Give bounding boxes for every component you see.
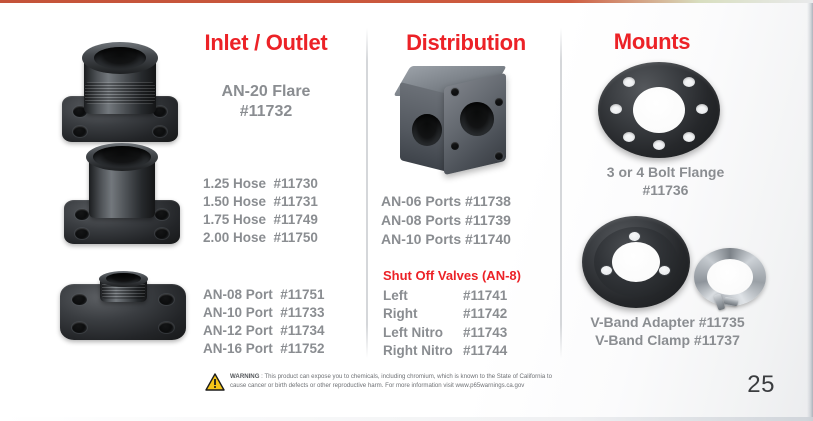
valve-row: Left #11741 <box>383 287 507 305</box>
product-image-an-port-flange <box>56 270 192 350</box>
valve-part-number: #11744 <box>463 342 507 360</box>
catalog-page: Inlet / Outlet AN-20 Flare #11732 1.25 H… <box>0 0 813 421</box>
column-divider-1 <box>366 28 368 358</box>
warning-triangle-icon <box>205 373 225 391</box>
product-image-hose-fitting <box>58 142 186 248</box>
valve-part-number: #11741 <box>463 287 507 305</box>
label-vband: V-Band Adapter #11735 V-Band Clamp #1173… <box>575 313 760 349</box>
label-bolt-flange: 3 or 4 Bolt Flange #11736 <box>578 163 753 199</box>
page-number: 25 <box>747 371 775 399</box>
valve-row: Right #11742 <box>383 305 507 323</box>
valve-name: Left <box>383 287 463 305</box>
top-rule-divider <box>0 0 813 3</box>
valve-name: Right <box>383 305 463 323</box>
product-image-an20-flare <box>56 38 184 146</box>
heading-distribution: Distribution <box>386 30 546 56</box>
product-image-bolt-flange <box>598 62 720 158</box>
warning-label: WARNING <box>230 373 259 380</box>
heading-mounts: Mounts <box>592 29 712 55</box>
product-image-distribution-block <box>394 64 518 180</box>
valve-row: Left Nitro #11743 <box>383 324 507 342</box>
page-right-edge-shadow <box>807 3 813 421</box>
warning-line-2: cause cancer or birth defects or other r… <box>230 382 524 389</box>
valve-name: Right Nitro <box>383 342 463 360</box>
product-image-vband-adapter <box>582 216 690 308</box>
valve-part-number: #11742 <box>463 305 507 323</box>
heading-inlet-outlet: Inlet / Outlet <box>190 30 342 56</box>
subheading-shut-off-valves: Shut Off Valves (AN-8) <box>383 268 521 283</box>
label-an20-flare: AN-20 Flare #11732 <box>186 82 346 121</box>
prop65-warning: WARNING : This product can expose you to… <box>205 372 675 391</box>
list-an-ports: AN-08 Port #11751 AN-10 Port #11733 AN-1… <box>203 286 325 358</box>
page-bottom-edge-shadow <box>0 417 813 421</box>
list-distribution-ports: AN-06 Ports #11738 AN-08 Ports #11739 AN… <box>381 192 511 249</box>
valve-row: Right Nitro #11744 <box>383 342 507 360</box>
warning-line-1: This product can expose you to chemicals… <box>264 373 552 380</box>
column-divider-2 <box>560 28 562 358</box>
product-image-vband-clamp <box>694 248 766 310</box>
valve-name: Left Nitro <box>383 324 463 342</box>
warning-text-block: WARNING : This product can expose you to… <box>230 372 552 391</box>
valve-part-number: #11743 <box>463 324 507 342</box>
list-shut-off-valves: Left #11741 Right #11742 Left Nitro #117… <box>383 287 507 360</box>
list-hose-sizes: 1.25 Hose #11730 1.50 Hose #11731 1.75 H… <box>203 175 318 247</box>
